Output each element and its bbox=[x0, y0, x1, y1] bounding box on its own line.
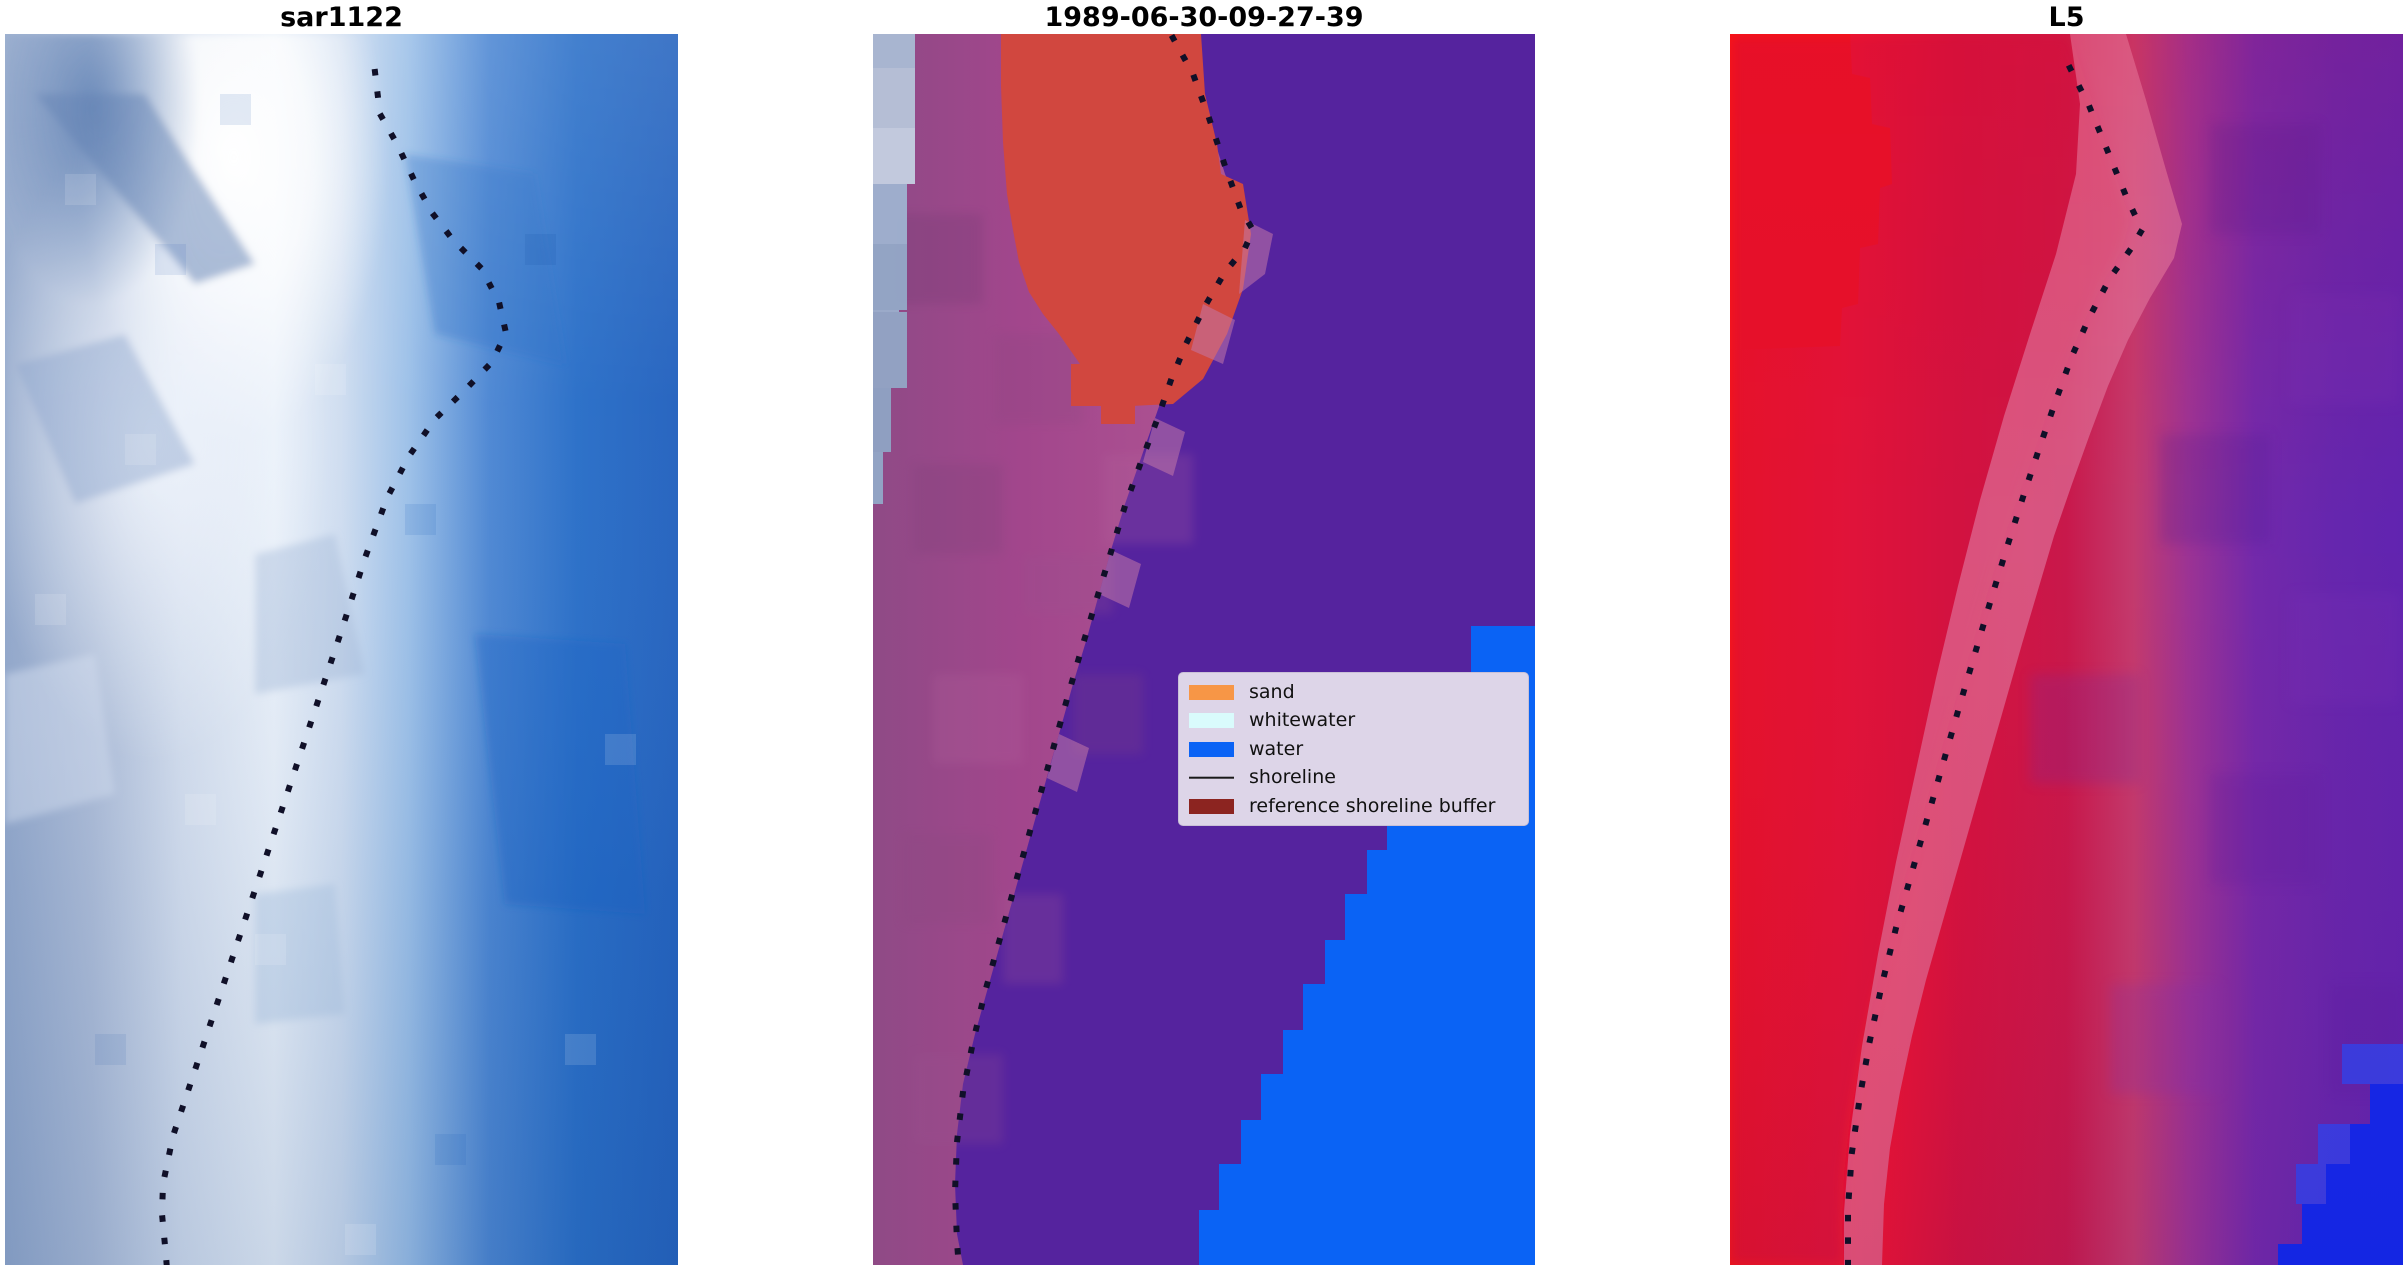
shoreline-overlay-sar bbox=[5, 34, 678, 1265]
reference-buffer-swatch bbox=[1189, 799, 1234, 814]
legend-box: sand whitewater water shoreline referenc… bbox=[1178, 672, 1529, 826]
l5-image bbox=[1730, 34, 2403, 1265]
legend-label-water: water bbox=[1249, 740, 1303, 759]
figure-root: sar1122 bbox=[0, 0, 2408, 1283]
legend-label-whitewater: whitewater bbox=[1249, 711, 1355, 730]
water-swatch bbox=[1189, 742, 1234, 757]
panel-title-l5: L5 bbox=[1730, 3, 2403, 33]
shoreline-overlay-l5 bbox=[1730, 34, 2403, 1265]
sar-image bbox=[5, 34, 678, 1265]
shoreline-overlay-classified bbox=[873, 34, 1535, 1265]
legend-item-reference-buffer: reference shoreline buffer bbox=[1189, 796, 1516, 816]
shoreline-line-swatch bbox=[1189, 770, 1234, 785]
panel-l5[interactable] bbox=[1730, 34, 2403, 1265]
panel-sar1122[interactable] bbox=[5, 34, 678, 1265]
legend-label-sand: sand bbox=[1249, 683, 1295, 702]
legend-item-water: water bbox=[1189, 739, 1516, 759]
classified-image bbox=[873, 34, 1535, 1265]
legend-item-whitewater: whitewater bbox=[1189, 711, 1516, 731]
legend-label-shoreline: shoreline bbox=[1249, 768, 1336, 787]
legend-label-reference-buffer: reference shoreline buffer bbox=[1249, 797, 1495, 816]
sand-swatch bbox=[1189, 685, 1234, 700]
panel-classified[interactable]: sand whitewater water shoreline referenc… bbox=[873, 34, 1535, 1265]
panel-title-sar: sar1122 bbox=[5, 3, 678, 33]
whitewater-swatch bbox=[1189, 713, 1234, 728]
legend-item-shoreline: shoreline bbox=[1189, 768, 1516, 788]
panel-title-classified: 1989-06-30-09-27-39 bbox=[873, 3, 1535, 33]
legend-item-sand: sand bbox=[1189, 682, 1516, 702]
